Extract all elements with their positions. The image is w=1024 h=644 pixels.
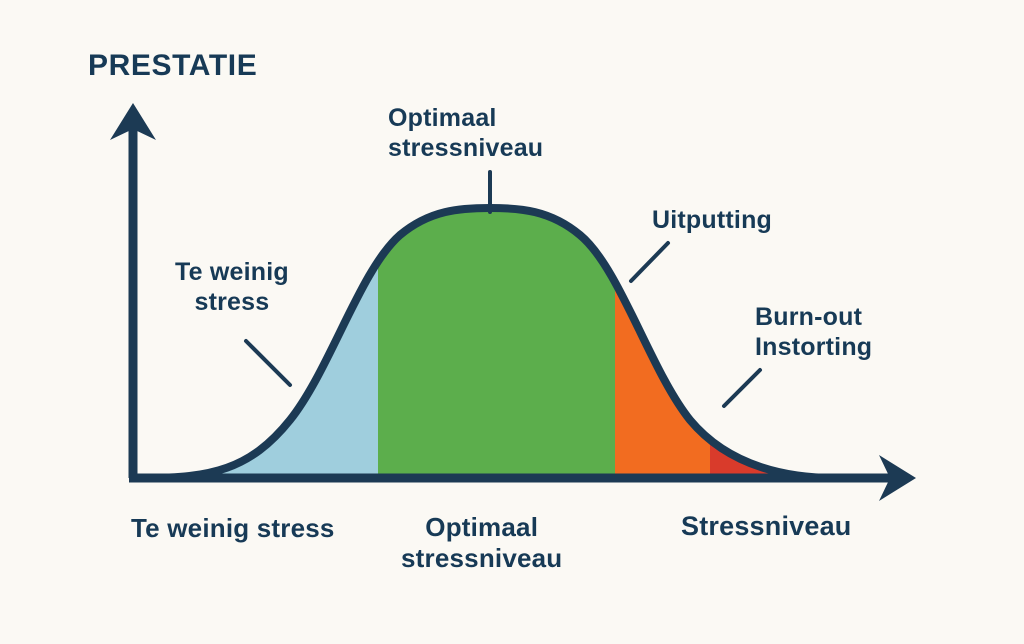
leader-line-burnout: [724, 370, 760, 406]
callout-too-little-stress: Te weinig stress: [175, 258, 289, 317]
x-tick-label-optimal-stress: Optimaal stressniveau: [401, 512, 562, 573]
callout-exhaustion: Uitputting: [652, 206, 772, 236]
leader-line-too-little-stress: [246, 341, 290, 385]
x-axis-title: Stressniveau: [681, 511, 852, 543]
chart-canvas: PRESTATIE Stressniveau Te weinig stress …: [0, 0, 1024, 644]
y-axis-title: PRESTATIE: [88, 48, 257, 83]
callout-optimal-stress: Optimaal stressniveau: [388, 104, 543, 163]
leader-line-exhaustion: [631, 243, 668, 281]
callout-burnout: Burn-out Instorting: [755, 303, 872, 362]
y-axis: [110, 103, 156, 478]
x-tick-label-too-little-stress: Te weinig stress: [131, 513, 335, 544]
